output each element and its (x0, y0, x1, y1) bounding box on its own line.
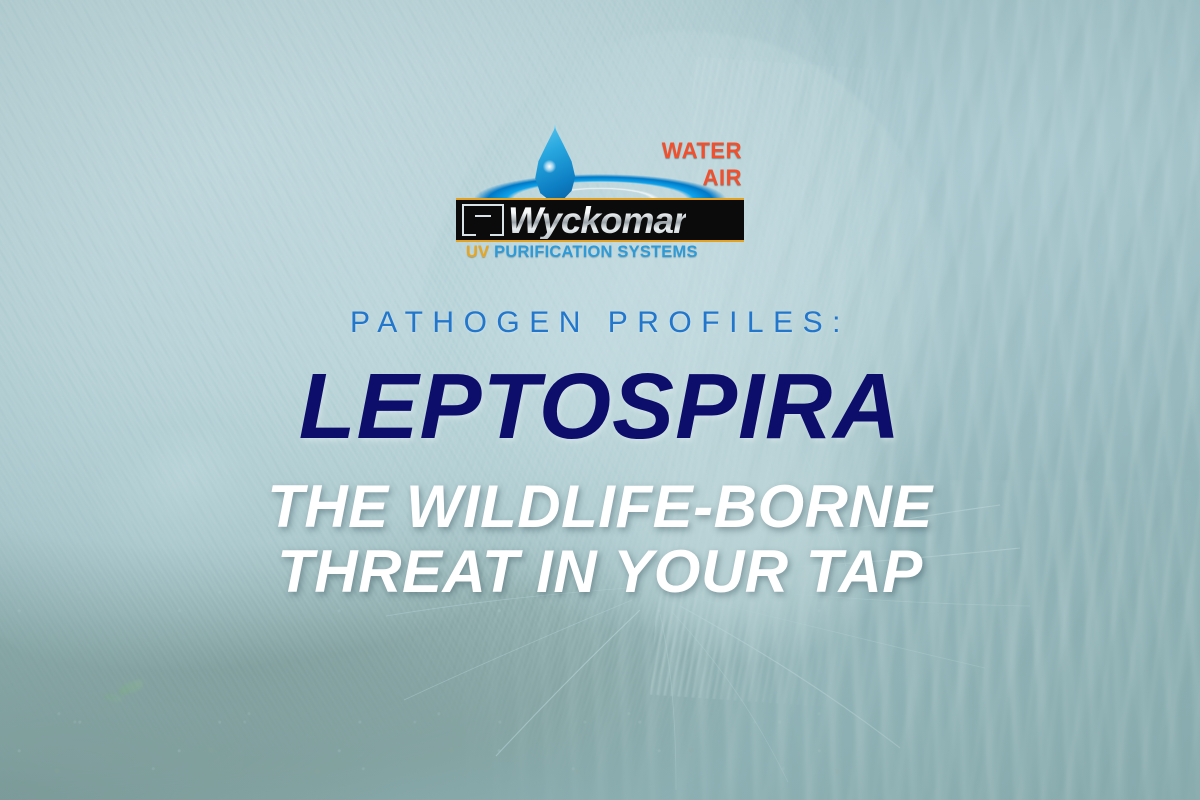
page-subtitle-line-1: THE WILDLIFE-BORNE (267, 473, 933, 540)
series-kicker: PATHOGEN PROFILES: (350, 308, 850, 338)
page-title: LEPTOSPIRA (299, 360, 902, 453)
logo-tagline-water: WATER (662, 140, 742, 162)
logo-wordmark-bar: Wyckomar (456, 198, 744, 242)
logo-subtitle: UV PURIFICATION SYSTEMS (456, 244, 744, 261)
pathogen-profile-banner: WATER AIR Wyckomar UV PURIFICATION SYSTE… (0, 0, 1200, 800)
wyckomar-logo: WATER AIR Wyckomar UV PURIFICATION SYSTE… (454, 126, 746, 274)
page-subtitle: THE WILDLIFE-BORNE THREAT IN YOUR TAP (267, 475, 933, 605)
wyckomar-bridge-emblem-icon (462, 204, 504, 236)
logo-subtitle-rest: PURIFICATION SYSTEMS (494, 243, 698, 261)
banner-content: WATER AIR Wyckomar UV PURIFICATION SYSTE… (0, 0, 1200, 800)
page-subtitle-line-2: THREAT IN YOUR TAP (267, 540, 933, 605)
logo-subtitle-uv: UV (466, 243, 489, 261)
logo-tagline-air: AIR (703, 167, 742, 189)
logo-wordmark: Wyckomar (508, 202, 686, 239)
